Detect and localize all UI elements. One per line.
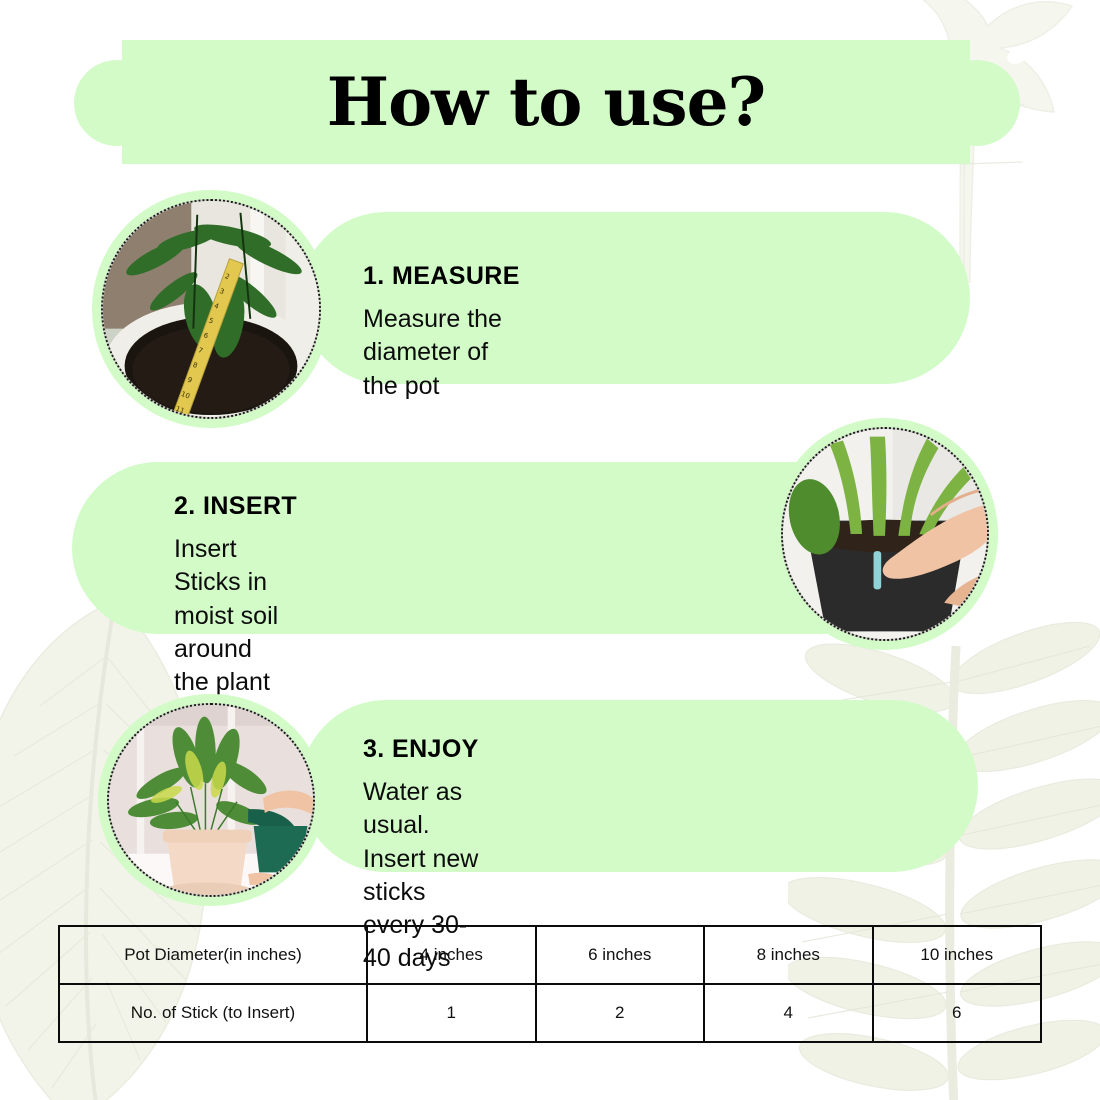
step-3-photo <box>98 694 324 906</box>
table-cell-sticks-3: 4 <box>704 984 873 1042</box>
table-cell-diameter-2: 6 inches <box>536 926 705 984</box>
step-2-photo-frame <box>781 427 989 641</box>
step-1-text: 1. MEASURE Measure the diameter of the p… <box>363 262 520 403</box>
step-1-heading: 1. MEASURE <box>363 262 520 291</box>
step-2-photo <box>772 418 998 650</box>
table-row-label-stick-count: No. of Stick (to Insert) <box>59 984 367 1042</box>
step-1-body: Measure the diameter of the pot <box>363 303 520 403</box>
infographic-canvas: How to use? <box>0 0 1100 1100</box>
step-2-heading: 2. INSERT <box>174 492 297 521</box>
table-cell-diameter-3: 8 inches <box>704 926 873 984</box>
table-cell-sticks-1: 1 <box>367 984 536 1042</box>
insert-stick-image <box>783 429 987 639</box>
page-title: How to use? <box>122 40 970 164</box>
watering-plant-image <box>109 705 313 895</box>
measure-plant-image: 23 45 67 89 1011 <box>103 201 319 417</box>
table-cell-diameter-4: 10 inches <box>873 926 1042 984</box>
step-3-photo-frame <box>107 703 315 897</box>
table-cell-diameter-1: 4 inches <box>367 926 536 984</box>
step-3-heading: 3. ENJOY <box>363 735 479 764</box>
table-cell-sticks-4: 6 <box>873 984 1042 1042</box>
table-row-label-pot-diameter: Pot Diameter(in inches) <box>59 926 367 984</box>
table-row-pot-diameter: Pot Diameter(in inches) 4 inches 6 inche… <box>59 926 1041 984</box>
step-1-photo: 23 45 67 89 1011 <box>92 190 330 428</box>
table-cell-sticks-2: 2 <box>536 984 705 1042</box>
step-1-photo-frame: 23 45 67 89 1011 <box>101 199 321 419</box>
pot-size-table: Pot Diameter(in inches) 4 inches 6 inche… <box>58 925 1042 1043</box>
table-row-stick-count: No. of Stick (to Insert) 1 2 4 6 <box>59 984 1041 1042</box>
